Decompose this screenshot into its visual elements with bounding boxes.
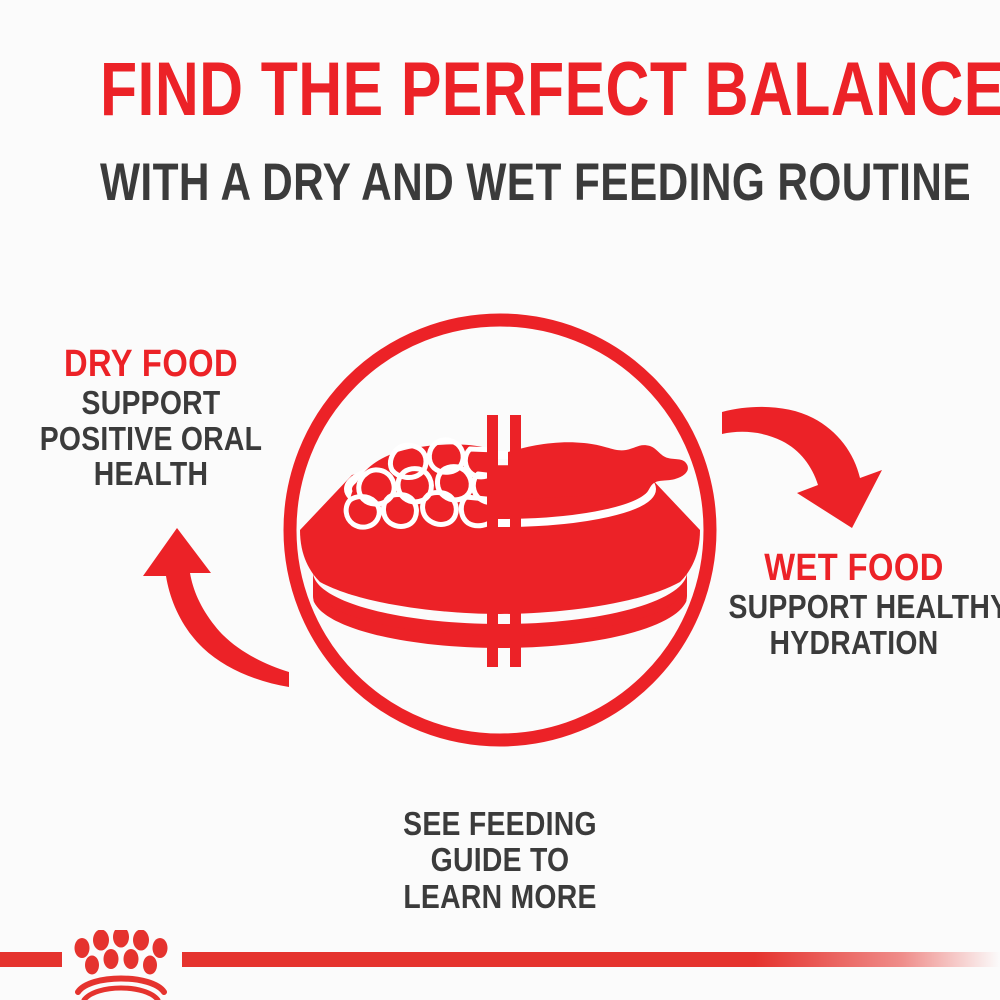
crown-paw-logo-icon <box>75 930 168 1000</box>
callout-dry-line-2: POSITIVE ORAL <box>28 421 274 457</box>
callout-wet-line-2: HYDRATION <box>728 625 979 661</box>
rule-right-segment <box>182 952 1000 967</box>
vertical-divider-icon <box>487 415 521 667</box>
footer-brand-bar <box>0 930 1000 1000</box>
curved-arrow-down-right-icon <box>722 407 882 528</box>
callout-dry-line-3: HEALTH <box>28 456 274 492</box>
callout-dry-food: DRY FOOD SUPPORT POSITIVE ORAL HEALTH <box>8 344 294 492</box>
infographic-page: FIND THE PERFECT BALANCE WITH A DRY AND … <box>0 0 1000 1000</box>
callout-dry-line-1: SUPPORT <box>28 385 274 421</box>
bowl-base-line <box>318 600 682 640</box>
cta-line-3: LEARN MORE <box>285 879 715 915</box>
bowl-body <box>300 465 700 614</box>
callout-wet-kicker: WET FOOD <box>728 548 979 589</box>
bowl-foot-ring <box>313 572 687 648</box>
kibble-pieces-icon <box>340 440 496 530</box>
callout-wet-food: WET FOOD SUPPORT HEALTHY HYDRATION <box>708 548 1000 660</box>
cta-line-2: GUIDE TO <box>285 842 715 878</box>
pet-food-bowl-icon <box>300 455 700 648</box>
feeding-guide-cta[interactable]: SEE FEEDING GUIDE TO LEARN MORE <box>250 806 750 915</box>
page-title: FIND THE PERFECT BALANCE <box>100 52 900 128</box>
callout-dry-kicker: DRY FOOD <box>28 344 274 385</box>
bowl-rim-highlight <box>348 455 652 523</box>
callout-wet-line-1: SUPPORT HEALTHY <box>728 589 979 625</box>
cta-line-1: SEE FEEDING <box>285 806 715 842</box>
curved-arrow-up-left-icon <box>143 528 289 687</box>
page-subtitle: WITH A DRY AND WET FEEDING ROUTINE <box>100 156 900 209</box>
circle-outline-icon <box>290 320 710 740</box>
rule-left-segment <box>0 952 62 967</box>
wet-food-mound-icon <box>508 442 688 500</box>
